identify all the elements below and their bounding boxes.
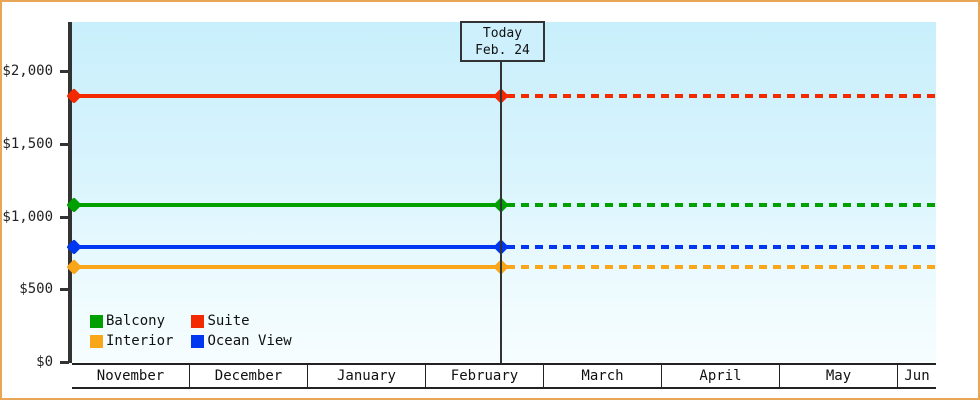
x-axis-month-march[interactable]: March xyxy=(544,365,662,387)
today-line xyxy=(500,22,502,363)
series-forecast-suite xyxy=(507,94,936,98)
x-axis-months: NovemberDecemberJanuaryFebruaryMarchApri… xyxy=(72,363,936,389)
y-axis-tick xyxy=(60,288,69,291)
y-axis-tick-label: $1,000 xyxy=(2,210,53,224)
y-axis-tick-label: $1,500 xyxy=(2,137,53,151)
y-axis-tick xyxy=(60,361,69,364)
legend-label: Balcony xyxy=(106,312,165,330)
today-label: Today xyxy=(462,25,543,42)
chart-page: $2,000$1,500$1,000$500$0 Today Feb. 24 B… xyxy=(0,0,980,400)
x-axis-month-april[interactable]: April xyxy=(662,365,780,387)
series-line-suite xyxy=(72,94,503,98)
y-axis-tick-label: $0 xyxy=(36,355,53,369)
legend-swatch-icon xyxy=(191,315,204,328)
y-axis-line xyxy=(68,22,72,363)
x-axis-month-january[interactable]: January xyxy=(308,365,426,387)
legend-swatch-icon xyxy=(90,315,103,328)
legend-label: Interior xyxy=(106,332,173,350)
x-axis-month-november[interactable]: November xyxy=(72,365,190,387)
series-forecast-ocean-view xyxy=(507,245,936,249)
series-forecast-interior xyxy=(507,265,936,269)
series-line-ocean-view xyxy=(72,245,503,249)
legend-item-ocean-view[interactable]: Ocean View xyxy=(191,332,291,350)
y-axis-tick-label: $500 xyxy=(19,282,53,296)
series-line-interior xyxy=(72,265,503,269)
legend-item-interior[interactable]: Interior xyxy=(90,332,173,350)
legend-swatch-icon xyxy=(90,335,103,348)
legend-label: Ocean View xyxy=(207,332,291,350)
plot-area xyxy=(72,22,936,362)
series-forecast-balcony xyxy=(507,203,936,207)
today-date: Feb. 24 xyxy=(462,42,543,59)
legend-label: Suite xyxy=(207,312,249,330)
y-axis-tick-label: $2,000 xyxy=(2,64,53,78)
today-annotation-box: Today Feb. 24 xyxy=(460,21,545,62)
x-axis-month-may[interactable]: May xyxy=(780,365,898,387)
x-axis-month-february[interactable]: February xyxy=(426,365,544,387)
legend-swatch-icon xyxy=(191,335,204,348)
legend-item-balcony[interactable]: Balcony xyxy=(90,312,173,330)
chart-legend: BalconySuiteInteriorOcean View xyxy=(90,312,292,350)
y-axis-tick xyxy=(60,216,69,219)
x-axis-month-jun[interactable]: Jun xyxy=(898,365,936,387)
series-line-balcony xyxy=(72,203,503,207)
legend-item-suite[interactable]: Suite xyxy=(191,312,291,330)
y-axis-tick xyxy=(60,70,69,73)
y-axis-tick xyxy=(60,143,69,146)
x-axis-month-december[interactable]: December xyxy=(190,365,308,387)
